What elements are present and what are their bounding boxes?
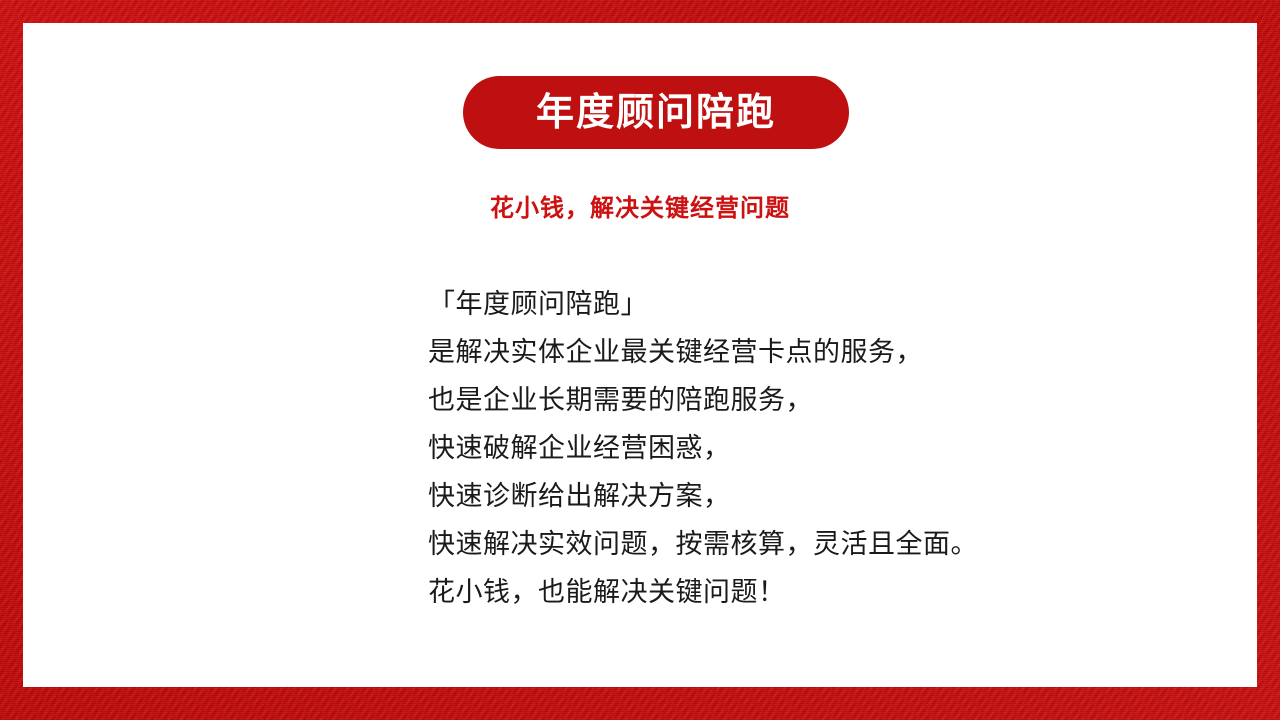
body-line: 花小钱，也能解决关键问题！	[428, 568, 1228, 616]
slide-frame: 年度顾问陪跑 花小钱，解决关键经营问题 「年度顾问陪跑」 是解决实体企业最关键经…	[0, 0, 1280, 720]
body-text-block: 「年度顾问陪跑」 是解决实体企业最关键经营卡点的服务， 也是企业长期需要的陪跑服…	[428, 280, 1228, 616]
body-line: 快速诊断给出解决方案，	[428, 472, 1228, 520]
body-line: 快速解决实效问题，按需核算，灵活且全面。	[428, 520, 1228, 568]
body-line: 也是企业长期需要的陪跑服务，	[428, 376, 1228, 424]
body-line: 是解决实体企业最关键经营卡点的服务，	[428, 328, 1228, 376]
slide-canvas: 年度顾问陪跑 花小钱，解决关键经营问题 「年度顾问陪跑」 是解决实体企业最关键经…	[23, 23, 1257, 687]
page-title: 年度顾问陪跑	[536, 94, 776, 132]
subtitle-text: 花小钱，解决关键经营问题	[23, 193, 1257, 224]
body-line: 「年度顾问陪跑」	[428, 280, 1228, 328]
title-pill: 年度顾问陪跑	[463, 76, 849, 149]
body-line: 快速破解企业经营困惑，	[428, 424, 1228, 472]
